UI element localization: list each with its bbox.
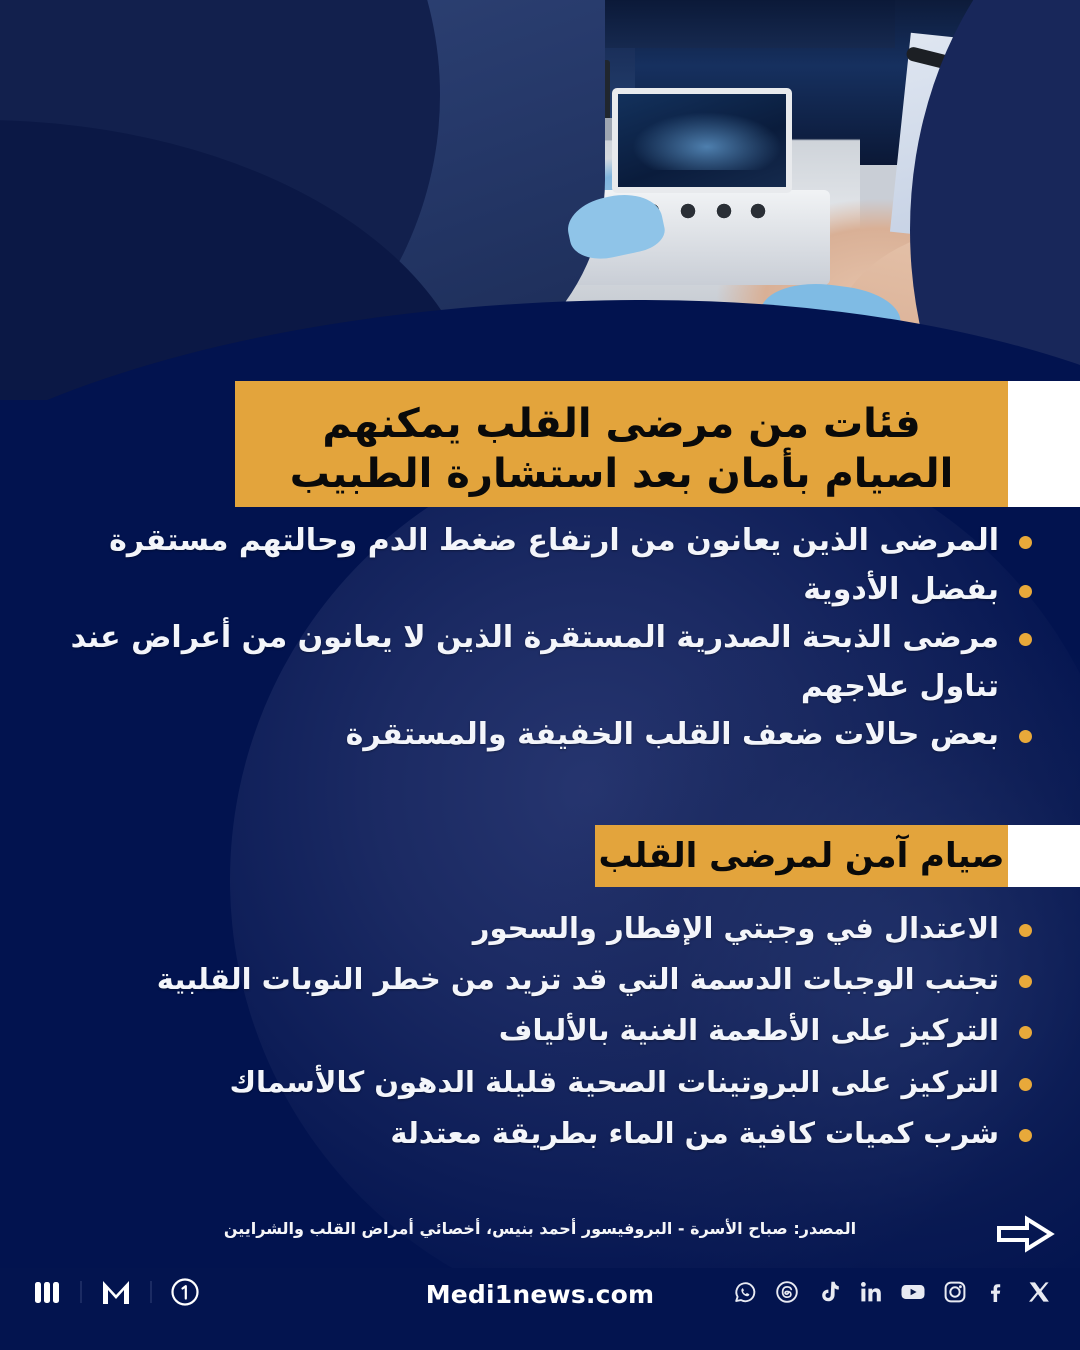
list-item-text: الاعتدال في وجبتي الإفطار والسحور bbox=[50, 908, 999, 949]
hero-image bbox=[0, 0, 1080, 400]
arrow-right-icon[interactable] bbox=[995, 1214, 1055, 1254]
list-item: المرضى الذين يعانون من ارتفاع ضغط الدم و… bbox=[50, 520, 1050, 563]
list-item-text: تجنب الوجبات الدسمة التي قد تزيد من خطر … bbox=[50, 959, 999, 1000]
bullet-dot-icon bbox=[1019, 1026, 1032, 1039]
list-item-text: شرب كميات كافية من الماء بطريقة معتدلة bbox=[50, 1113, 999, 1154]
list-item: الاعتدال في وجبتي الإفطار والسحور bbox=[50, 908, 1050, 949]
list-item-text: بعض حالات ضعف القلب الخفيفة والمستقرة bbox=[50, 714, 999, 757]
threads-icon[interactable] bbox=[773, 1278, 800, 1305]
bullet-dot-icon bbox=[1019, 1078, 1032, 1091]
list-item-text: التركيز على الأطعمة الغنية بالألياف bbox=[50, 1010, 999, 1051]
list-item: بعض حالات ضعف القلب الخفيفة والمستقرة bbox=[50, 714, 1050, 757]
list-item: شرب كميات كافية من الماء بطريقة معتدلة bbox=[50, 1113, 1050, 1154]
youtube-icon[interactable] bbox=[899, 1278, 926, 1305]
bullet-dot-icon bbox=[1019, 585, 1032, 598]
bullet-list-eligible-patients: المرضى الذين يعانون من ارتفاع ضغط الدم و… bbox=[50, 520, 1050, 763]
photo-monitor-top bbox=[595, 0, 895, 48]
list-item-text: تناول علاجهم bbox=[50, 666, 999, 709]
infographic-poster: فئات من مرضى القلب يمكنهم الصيام بأمان ب… bbox=[0, 0, 1080, 1350]
list-item-continuation: تناول علاجهم bbox=[50, 666, 1050, 709]
facebook-icon[interactable] bbox=[983, 1278, 1010, 1305]
title-banner: فئات من مرضى القلب يمكنهم الصيام بأمان ب… bbox=[235, 381, 1008, 507]
title-banner-white-strip bbox=[1008, 381, 1080, 507]
source-credit: المصدر: صباح الأسرة - البروفيسور أحمد بن… bbox=[0, 1219, 1080, 1238]
photo-ultrasound-screen bbox=[612, 88, 792, 193]
sub-banner: صيام آمن لمرضى القلب bbox=[595, 825, 1008, 887]
bullet-dot-icon bbox=[1019, 633, 1032, 646]
list-item: مرضى الذبحة الصدرية المستقرة الذين لا يع… bbox=[50, 617, 1050, 660]
list-item-text: التركيز على البروتينات الصحية قليلة الده… bbox=[50, 1062, 999, 1103]
list-item-text: بفضل الأدوية bbox=[50, 569, 999, 612]
list-item: التركيز على البروتينات الصحية قليلة الده… bbox=[50, 1062, 1050, 1103]
title-line-2: الصيام بأمان بعد استشارة الطبيب bbox=[253, 449, 990, 499]
list-item-text: المرضى الذين يعانون من ارتفاع ضغط الدم و… bbox=[50, 520, 999, 563]
tiktok-icon[interactable] bbox=[815, 1278, 842, 1305]
whatsapp-icon[interactable] bbox=[731, 1278, 758, 1305]
bullet-list-safe-fasting-tips: الاعتدال في وجبتي الإفطار والسحور تجنب ا… bbox=[50, 908, 1050, 1164]
social-links bbox=[731, 1278, 1052, 1305]
bullet-dot-icon bbox=[1019, 924, 1032, 937]
list-item: تجنب الوجبات الدسمة التي قد تزيد من خطر … bbox=[50, 959, 1050, 1000]
bullet-dot-icon bbox=[1019, 1129, 1032, 1142]
linkedin-icon[interactable] bbox=[857, 1278, 884, 1305]
list-item-text: مرضى الذبحة الصدرية المستقرة الذين لا يع… bbox=[50, 617, 999, 660]
bullet-dot-icon bbox=[1019, 730, 1032, 743]
bullet-dot-icon bbox=[1019, 536, 1032, 549]
instagram-icon[interactable] bbox=[941, 1278, 968, 1305]
bullet-dot-icon bbox=[1019, 975, 1032, 988]
title-line-1: فئات من مرضى القلب يمكنهم bbox=[253, 399, 990, 449]
footer-bar: Medi1news.com bbox=[0, 1268, 1080, 1350]
x-twitter-icon[interactable] bbox=[1025, 1278, 1052, 1305]
sub-banner-white-strip bbox=[1008, 825, 1080, 887]
sub-banner-title: صيام آمن لمرضى القلب bbox=[599, 835, 1005, 878]
list-item: التركيز على الأطعمة الغنية بالألياف bbox=[50, 1010, 1050, 1051]
list-item: بفضل الأدوية bbox=[50, 569, 1050, 612]
